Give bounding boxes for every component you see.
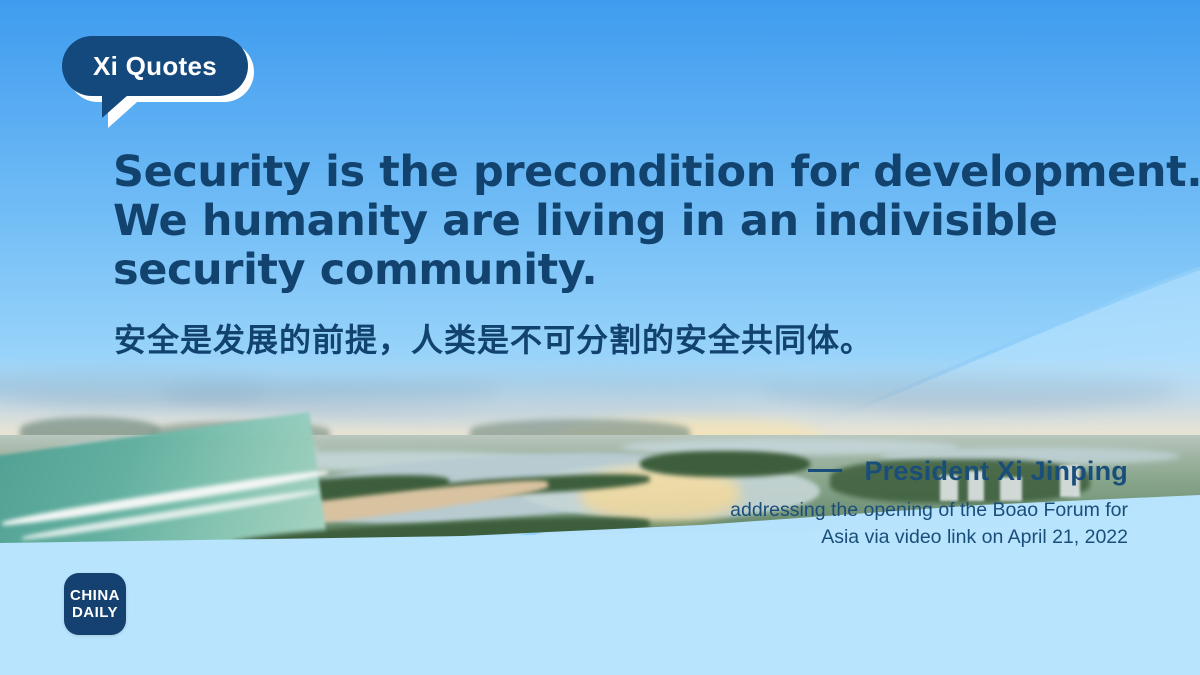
badge-pill: Xi Quotes [62, 36, 248, 96]
attribution-speaker: President Xi Jinping [864, 456, 1128, 487]
quote-english: Security is the precondition for develop… [113, 148, 1123, 295]
attribution-name-row: President Xi Jinping [508, 456, 1128, 487]
badge-label: Xi Quotes [93, 51, 217, 82]
quote-line-2: We humanity are living in an indivisible [113, 197, 1123, 246]
em-dash-icon [808, 469, 842, 472]
quote-line-3: security community. [113, 246, 1123, 295]
photo-cloud [760, 367, 1180, 409]
photo-cloud [420, 359, 800, 399]
quote-card: Xi Quotes Security is the precondition f… [0, 0, 1200, 675]
xi-quotes-badge[interactable]: Xi Quotes [62, 36, 292, 126]
logo-line-1: CHINA [70, 588, 120, 603]
attribution-context-line-1: addressing the opening of the Boao Forum… [508, 497, 1128, 524]
china-daily-logo[interactable]: CHINA DAILY [64, 573, 126, 635]
attribution-context: addressing the opening of the Boao Forum… [508, 497, 1128, 551]
quote-line-1: Security is the precondition for develop… [113, 148, 1123, 197]
attribution-context-line-2: Asia via video link on April 21, 2022 [508, 524, 1128, 551]
quote-chinese: 安全是发展的前提，人类是不可分割的安全共同体。 [114, 318, 1114, 362]
logo-line-2: DAILY [72, 605, 118, 620]
attribution: President Xi Jinping addressing the open… [508, 456, 1128, 551]
